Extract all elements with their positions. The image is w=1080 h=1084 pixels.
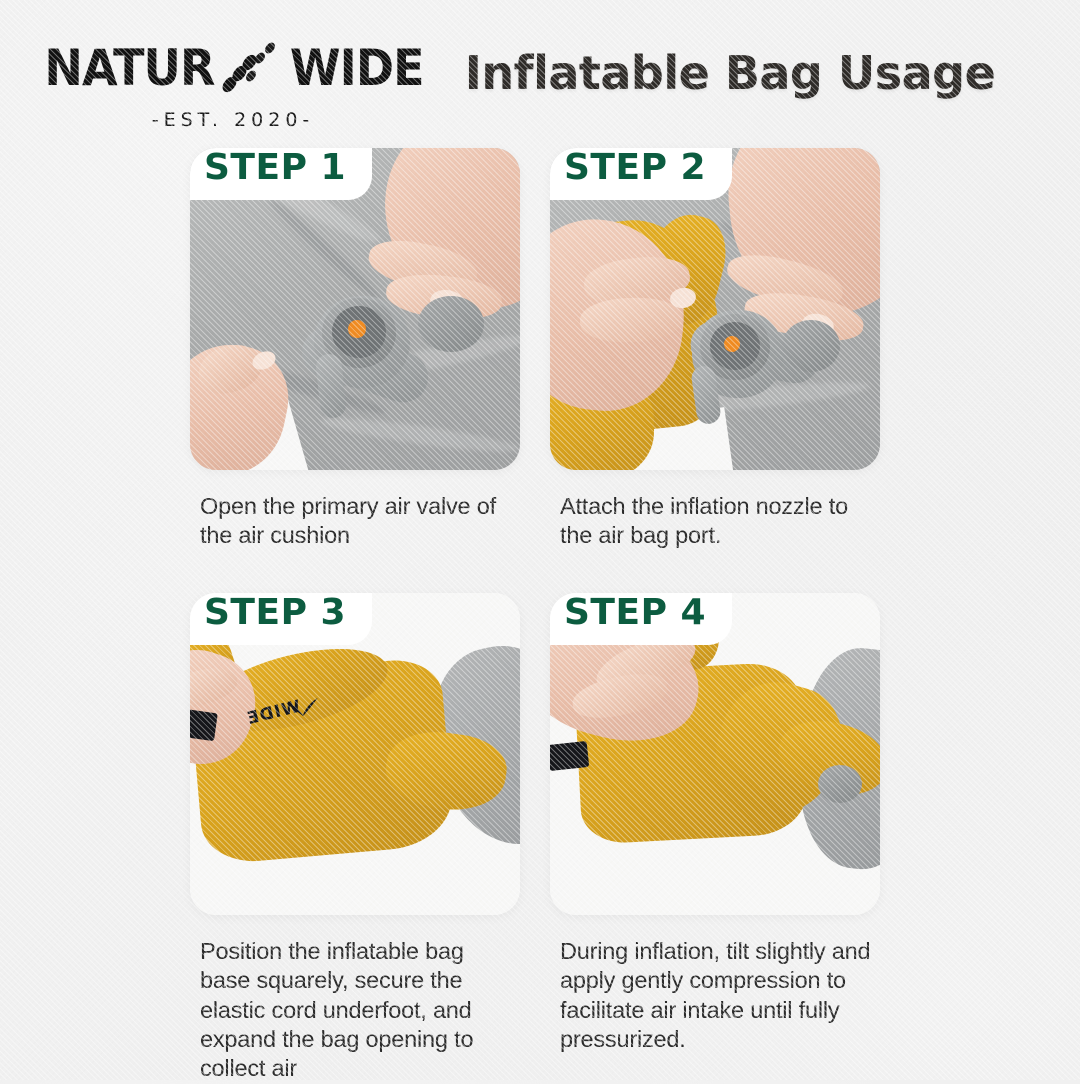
step-1-caption: Open the primary air valve of the air cu…	[200, 492, 512, 551]
paw-prints-icon	[222, 40, 284, 96]
steps-row-bottom: WIDE STEP 3 Position the inflatable bag …	[0, 593, 1080, 1084]
brand-name-right: WIDE	[290, 43, 424, 93]
step-4-badge: STEP 4	[550, 593, 732, 645]
step-card-4: STEP 4 During inflation, tilt slightly a…	[550, 593, 890, 1084]
brand-name-left: NATUR	[44, 43, 214, 93]
step-card-1: STEP 1 Open the primary air valve of the…	[190, 148, 530, 551]
brand-established: -EST. 2020-	[68, 109, 398, 131]
step-4-caption: During inflation, tilt slightly and appl…	[560, 937, 872, 1055]
step-2-caption: Attach the inflation nozzle to the air b…	[560, 492, 872, 551]
brand-logo-row: NATUR WIDE	[68, 40, 398, 96]
step-1-badge: STEP 1	[190, 148, 372, 200]
step-card-3: WIDE STEP 3 Position the inflatable bag …	[190, 593, 530, 1084]
steps-grid: STEP 1 Open the primary air valve of the…	[0, 148, 1080, 1084]
step-4-photo: STEP 4	[550, 593, 880, 915]
step-3-caption: Position the inflatable bag base squarel…	[200, 937, 512, 1084]
header: NATUR WIDE -EST. 2020- Inflatable Bag Us…	[0, 0, 1080, 150]
step-3-photo: WIDE STEP 3	[190, 593, 520, 915]
step-card-2: STEP 2 Attach the inflation nozzle to th…	[550, 148, 890, 551]
step-2-badge: STEP 2	[550, 148, 732, 200]
steps-row-top: STEP 1 Open the primary air valve of the…	[0, 148, 1080, 551]
step-1-photo: STEP 1	[190, 148, 520, 470]
step-3-badge: STEP 3	[190, 593, 372, 645]
brand-logo: NATUR WIDE -EST. 2020-	[68, 40, 398, 131]
step-2-photo: STEP 2	[550, 148, 880, 470]
page-title: Inflatable Bag Usage	[440, 46, 1020, 100]
infographic-page: NATUR WIDE -EST. 2020- Inflatable Bag Us…	[0, 0, 1080, 1080]
